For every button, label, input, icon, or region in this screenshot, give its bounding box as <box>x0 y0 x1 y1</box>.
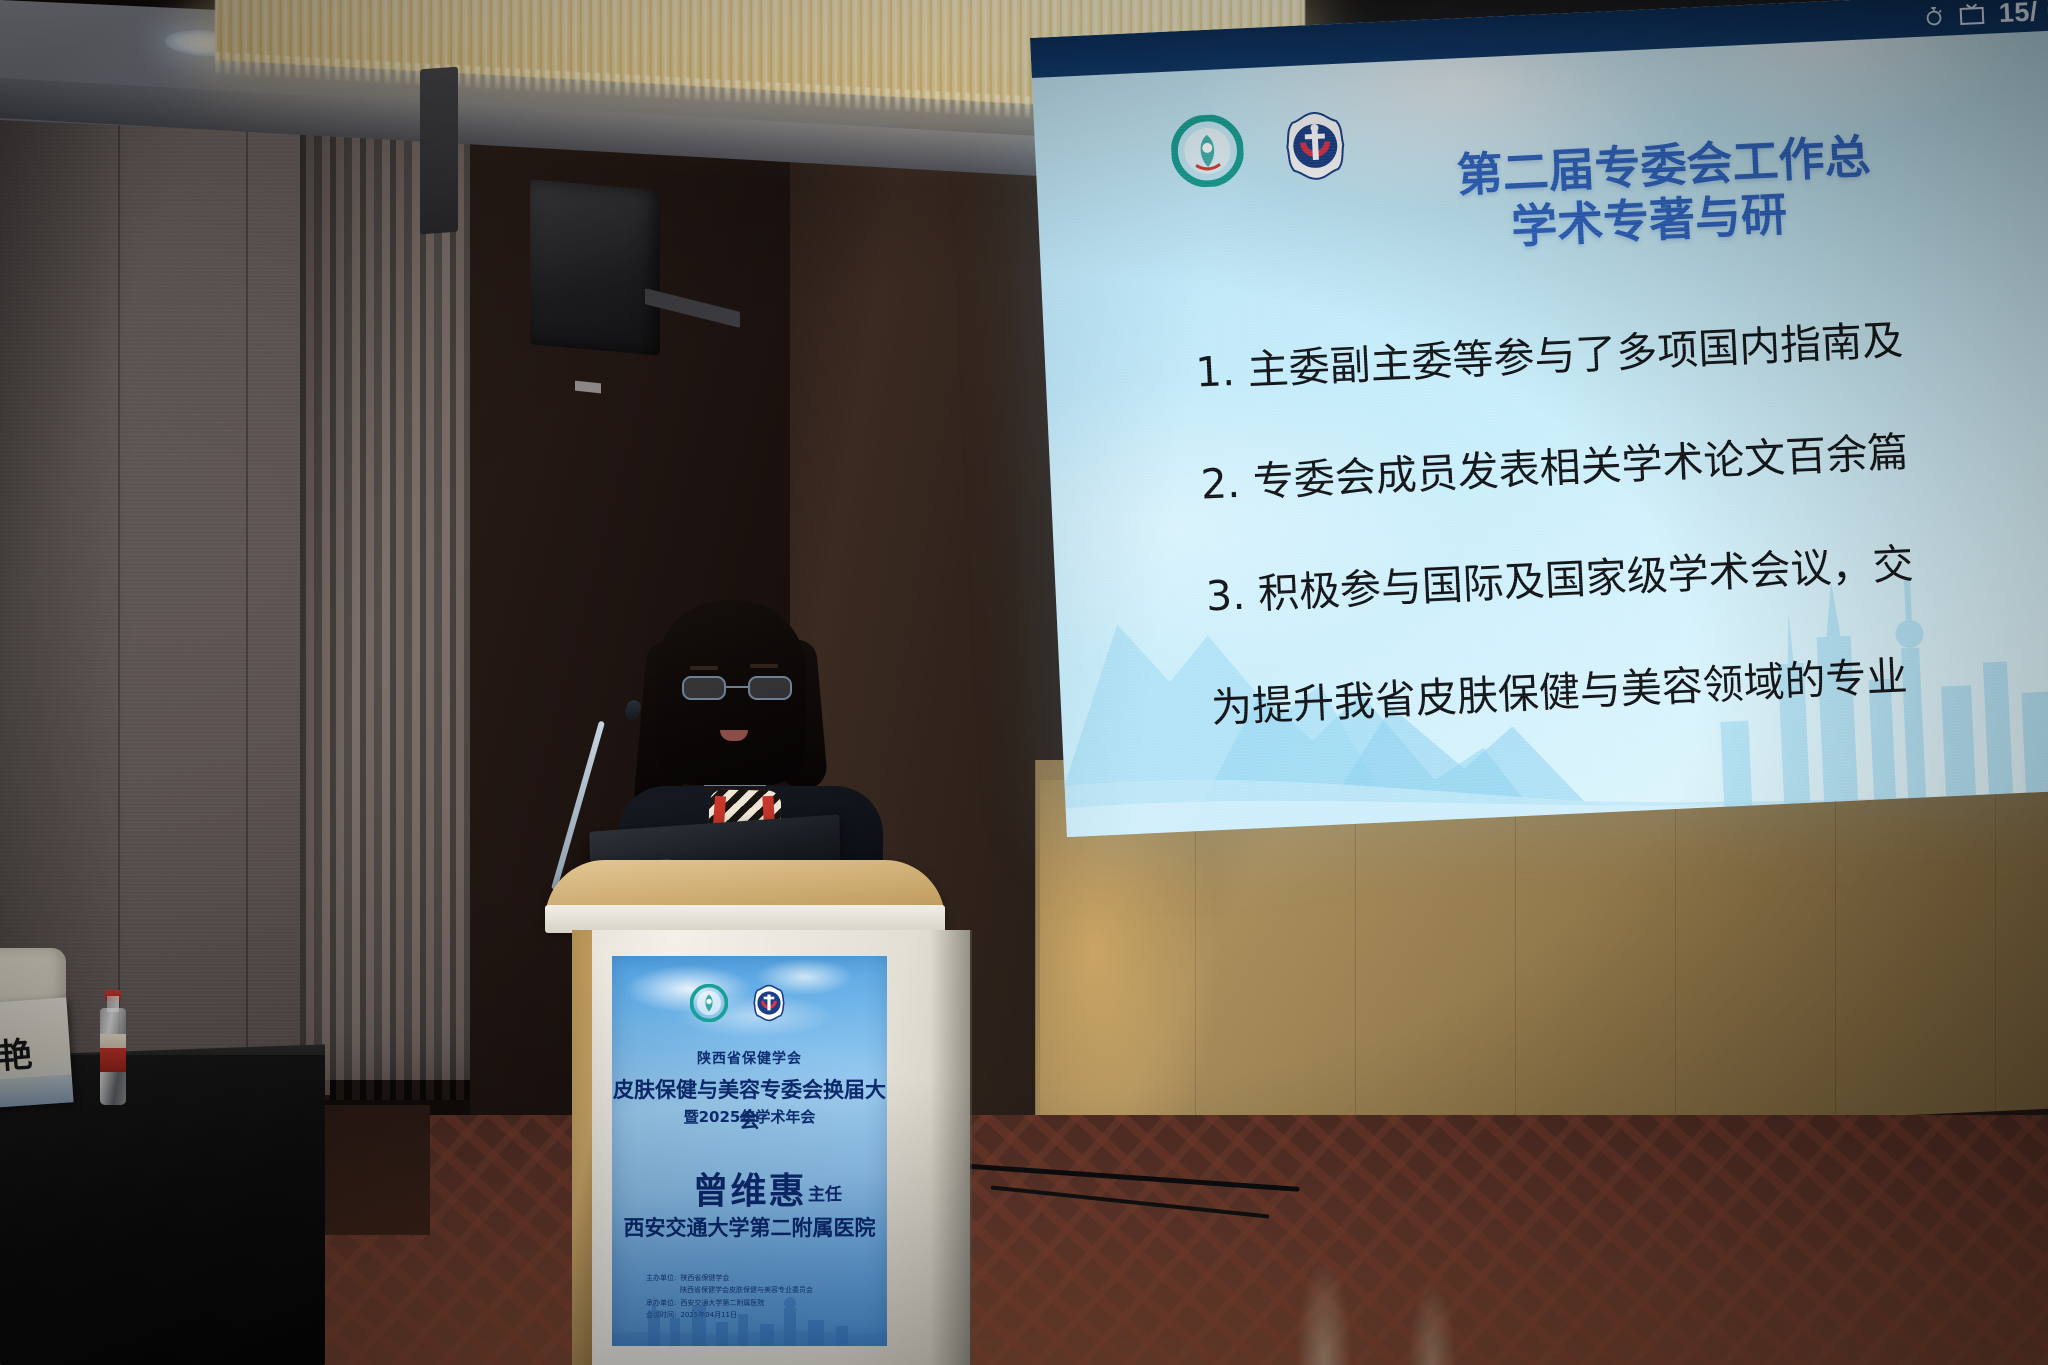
podium-right-shading <box>930 930 972 1365</box>
shaanxi-health-association-logo <box>690 984 728 1022</box>
sign-speaker-name: 曾维惠 <box>612 1162 887 1214</box>
speaker-mount-arm <box>420 67 458 235</box>
sign-footer-row: 主办单位: 陕西省保健学会 <box>646 1272 866 1284</box>
sign-speaker-affiliation: 西安交通大学第二附属医院 <box>612 1212 887 1242</box>
glasses-icon <box>682 676 792 702</box>
podium-sign: 陕西省保健学会 皮肤保健与美容专委会换届大会 暨2025年学术年会 曾维惠 主任… <box>612 956 887 1346</box>
stage-curtain <box>300 120 485 1100</box>
xjtu-second-affiliated-hospital-logo <box>750 984 788 1022</box>
conference-photo-scene: 艳 <box>0 0 2048 1365</box>
sign-organization: 陕西省保健学会 <box>612 1048 887 1068</box>
sign-event-subtitle: 暨2025年学术年会 <box>612 1106 887 1127</box>
wall-seam <box>118 95 120 1095</box>
projector-scanlines <box>1030 0 2048 837</box>
wall-seam <box>246 95 248 1095</box>
stopwatch-icon[interactable] <box>1922 5 1945 28</box>
slide-counter: 15/ <box>1998 0 2038 29</box>
projection-screen: 第二届专委会工作总 学术专著与研 1. 主委副主委等参与了多项国内指南及 2. … <box>1030 0 2048 837</box>
wall-loudspeaker <box>530 179 660 355</box>
bottle-label-upper <box>100 1034 126 1049</box>
sign-speaker-role: 主任 <box>808 1180 842 1205</box>
sign-city-skyline-graphic <box>612 1288 887 1346</box>
sign-logos <box>690 984 788 1022</box>
bottle-label <box>100 1048 126 1072</box>
water-bottle <box>98 990 128 1105</box>
carpet-swirl-motif <box>1180 1175 1540 1365</box>
tv-screen-icon <box>1958 3 1985 26</box>
left-wall <box>0 95 330 1095</box>
sign-footer-key: 主办单位: <box>646 1272 676 1284</box>
name-card-name: 艳 <box>0 1038 33 1074</box>
podium-lip <box>545 905 945 933</box>
name-card: 艳 <box>0 997 74 1107</box>
sign-footer-value: 陕西省保健学会 <box>680 1272 729 1284</box>
name-card-graphic <box>0 1074 74 1107</box>
